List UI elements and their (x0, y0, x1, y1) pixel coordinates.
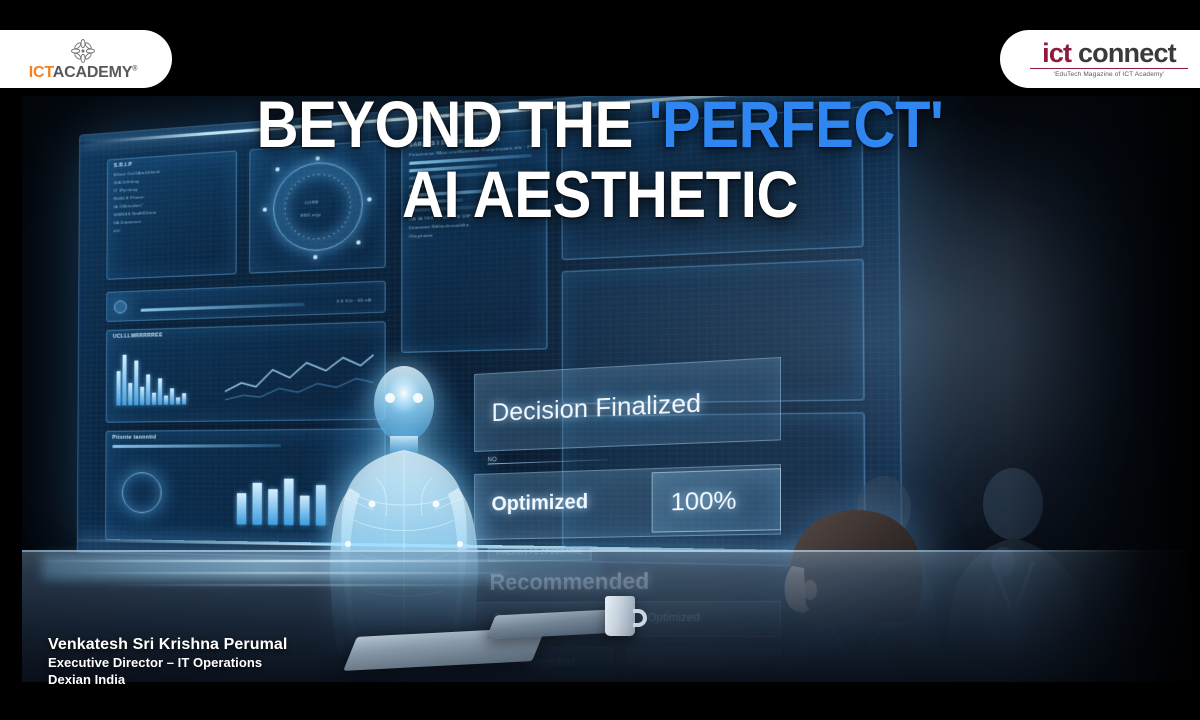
academy-floral-mark-icon (70, 38, 96, 64)
atmospheric-haze (22, 96, 1200, 682)
ict-connect-logo: ict connect ‘EduTech Magazine of ICT Aca… (1030, 40, 1188, 79)
ict-connect-wordmark: ict connect (1042, 40, 1176, 67)
ict-academy-logo-pill[interactable]: ICTACADEMY® (0, 30, 172, 88)
poster-canvas: S.R.I.P Ethne OxClAtoiUtheid IDA Diftili… (0, 0, 1200, 720)
wordmark-academy: ACADEMY (53, 64, 133, 81)
byline-role: Executive Director – IT Operations (48, 655, 287, 671)
byline: Venkatesh Sri Krishna Perumal Executive … (48, 635, 287, 688)
ict-academy-logo: ICTACADEMY® (29, 38, 137, 81)
scene-photo: S.R.I.P Ethne OxClAtoiUtheid IDA Diftili… (22, 96, 1200, 682)
left-black-border (0, 0, 22, 720)
bottom-black-border (0, 702, 1200, 720)
wordmark-ict: ict (1042, 38, 1071, 68)
ict-connect-logo-pill[interactable]: ict connect ‘EduTech Magazine of ICT Aca… (1000, 30, 1200, 88)
registered-mark-icon: ® (132, 65, 137, 72)
logo-underline (1030, 68, 1188, 70)
byline-organization: Dexian India (48, 672, 287, 688)
wordmark-connect: connect (1078, 38, 1176, 68)
byline-name: Venkatesh Sri Krishna Perumal (48, 635, 287, 655)
ict-academy-wordmark: ICTACADEMY® (29, 65, 137, 81)
logo-tagline: ‘EduTech Magazine of ICT Academy’ (1053, 71, 1164, 78)
wordmark-ict: ICT (29, 64, 53, 81)
